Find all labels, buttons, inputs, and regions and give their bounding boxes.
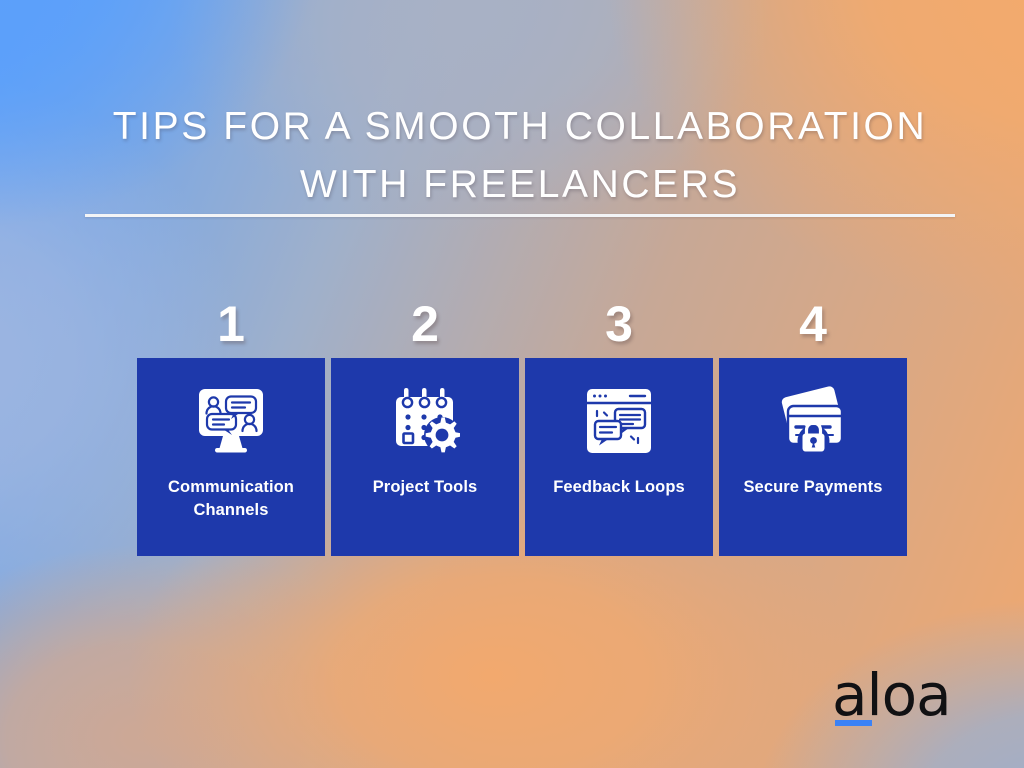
tip-number-4: 4 (799, 296, 827, 358)
calendar-gear-icon (388, 384, 462, 458)
tip-card-1-box[interactable]: Communication Channels (137, 358, 325, 556)
tips-card-row: 1 (137, 296, 902, 556)
tip-number-2: 2 (411, 296, 439, 358)
slide-title: TIPS FOR A SMOOTH COLLABORATION WITH FRE… (85, 98, 955, 214)
browser-chat-bubbles-icon (582, 384, 656, 458)
tip-card-4-box[interactable]: Secure Payments (719, 358, 907, 556)
tip-label-4: Secure Payments (735, 476, 890, 499)
tip-card-3[interactable]: 3 (525, 296, 713, 556)
tip-card-2-box[interactable]: Project Tools (331, 358, 519, 556)
tip-label-1: Communication Channels (137, 476, 325, 522)
monitor-chat-icon (194, 384, 268, 458)
aloa-logo-wordmark: aloa (832, 666, 968, 724)
title-line-2: WITH FREELANCERS (85, 156, 955, 214)
credit-card-lock-icon (776, 384, 850, 458)
title-divider-rule (85, 214, 955, 217)
tip-card-1[interactable]: 1 (137, 296, 325, 556)
aloa-logo[interactable]: aloa (832, 666, 968, 728)
aloa-logo-underline (835, 720, 872, 726)
tip-label-3: Feedback Loops (545, 476, 693, 499)
tip-card-2[interactable]: 2 (331, 296, 519, 556)
title-line-1: TIPS FOR A SMOOTH COLLABORATION (85, 98, 955, 156)
tip-label-2: Project Tools (365, 476, 486, 499)
tip-number-1: 1 (217, 296, 245, 358)
infographic-slide: TIPS FOR A SMOOTH COLLABORATION WITH FRE… (0, 0, 1024, 768)
tip-card-4[interactable]: 4 (719, 296, 907, 556)
tip-number-3: 3 (605, 296, 633, 358)
tip-card-3-box[interactable]: Feedback Loops (525, 358, 713, 556)
